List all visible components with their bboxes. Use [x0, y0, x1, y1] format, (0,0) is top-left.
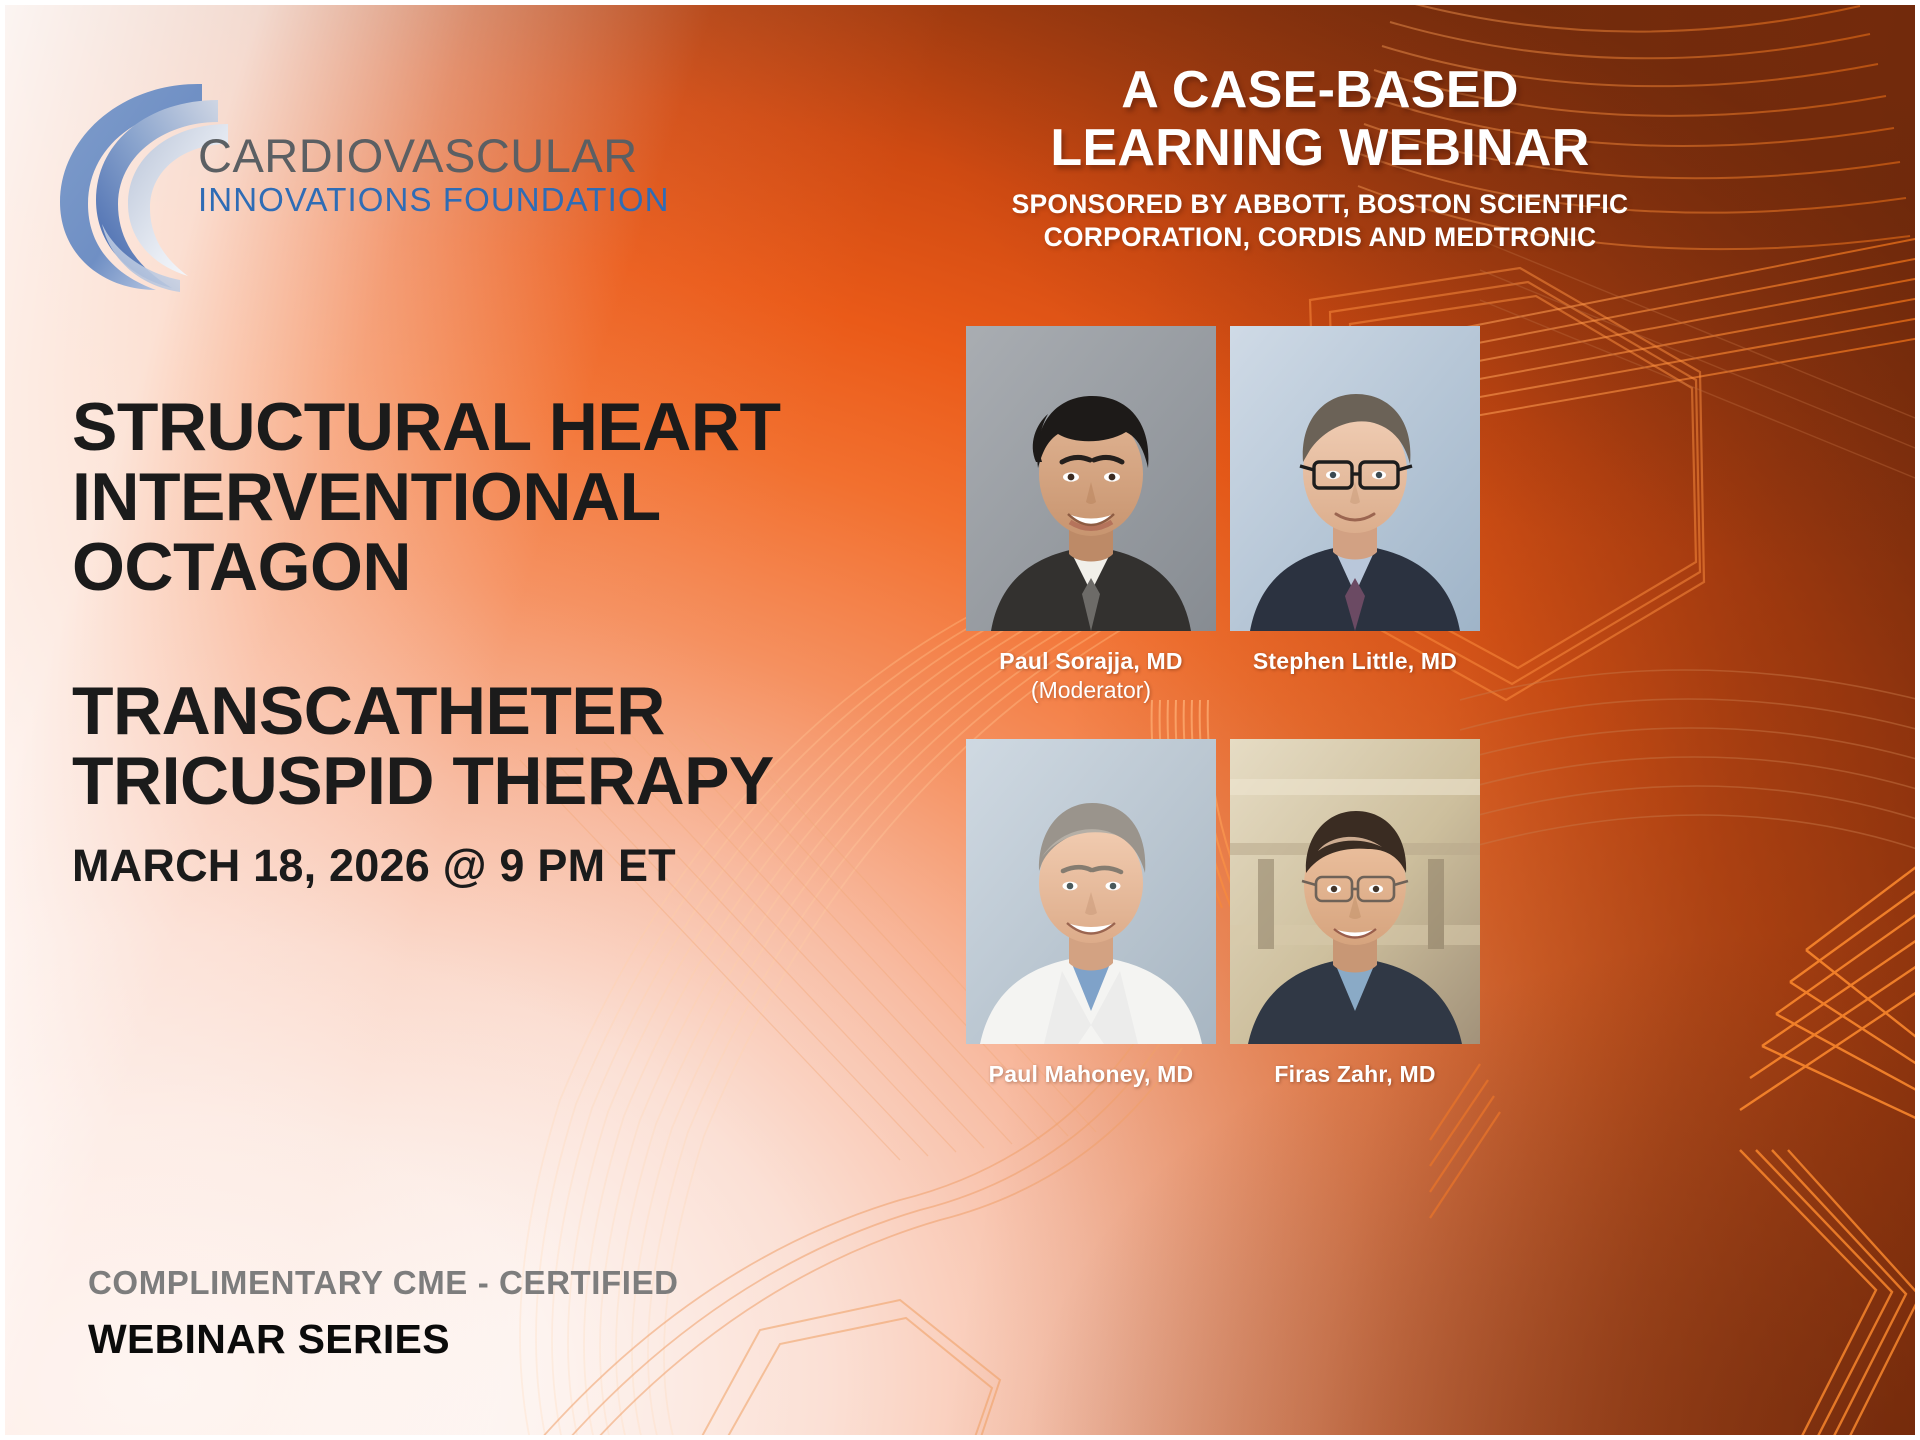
- cif-logo: CARDIOVASCULAR INNOVATIONS FOUNDATION: [52, 74, 612, 304]
- logo-line-cardiovascular: CARDIOVASCULAR: [198, 132, 658, 179]
- speaker-card: Firas Zahr, MD: [1230, 739, 1480, 1090]
- avatar: [1230, 739, 1480, 1044]
- logo-line-innovations-foundation: INNOVATIONS FOUNDATION: [198, 179, 658, 220]
- speaker-grid: Paul Sorajja, MD (Moderator): [958, 326, 1858, 1386]
- topic-one-line1: STRUCTURAL HEART: [72, 392, 942, 462]
- avatar: [966, 326, 1216, 631]
- speaker-card: Paul Sorajja, MD (Moderator): [966, 326, 1216, 704]
- avatar: [1230, 326, 1480, 631]
- sponsor-line2: CORPORATION, CORDIS AND MEDTRONIC: [780, 221, 1860, 253]
- webinar-flyer: CARDIOVASCULAR INNOVATIONS FOUNDATION A …: [0, 0, 1920, 1440]
- speaker-card: Stephen Little, MD: [1230, 326, 1480, 677]
- footer-block: COMPLIMENTARY CME - CERTIFIED WEBINAR SE…: [88, 1264, 908, 1363]
- event-date: MARCH 18, 2026 @ 9 PM ET: [72, 840, 942, 892]
- portrait-firas-zahr: [1230, 739, 1480, 1044]
- header-title-line1: A CASE-BASED: [780, 62, 1860, 120]
- header-block: A CASE-BASED LEARNING WEBINAR SPONSORED …: [780, 62, 1860, 253]
- speaker-card: Paul Mahoney, MD: [966, 739, 1216, 1090]
- topic-one-line2: INTERVENTIONAL: [72, 462, 942, 532]
- headline-spacer: [72, 602, 942, 676]
- cme-certified-label: COMPLIMENTARY CME - CERTIFIED: [88, 1264, 908, 1302]
- topic-two-line1: TRANSCATHETER: [72, 676, 942, 746]
- webinar-series-label: WEBINAR SERIES: [88, 1316, 908, 1363]
- sponsor-text: SPONSORED BY ABBOTT, BOSTON SCIENTIFIC C…: [780, 188, 1860, 253]
- portrait-paul-mahoney: [966, 739, 1216, 1044]
- headline-block: STRUCTURAL HEART INTERVENTIONAL OCTAGON …: [72, 392, 942, 892]
- speaker-name: Stephen Little, MD: [1230, 648, 1480, 675]
- topic-one-line3: OCTAGON: [72, 532, 942, 602]
- topic-two-line2: TRICUSPID THERAPY: [72, 746, 942, 816]
- header-title: A CASE-BASED LEARNING WEBINAR: [780, 62, 1860, 177]
- speaker-name: Firas Zahr, MD: [1230, 1061, 1480, 1088]
- portrait-paul-sorajja: [966, 326, 1216, 631]
- topic-two-title: TRANSCATHETER TRICUSPID THERAPY: [72, 676, 942, 816]
- avatar: [966, 739, 1216, 1044]
- speaker-name: Paul Sorajja, MD: [966, 648, 1216, 675]
- speaker-name: Paul Mahoney, MD: [966, 1061, 1216, 1088]
- portrait-stephen-little: [1230, 326, 1480, 631]
- header-title-line2: LEARNING WEBINAR: [780, 120, 1860, 178]
- topic-one-title: STRUCTURAL HEART INTERVENTIONAL OCTAGON: [72, 392, 942, 602]
- cif-logo-wordmark: CARDIOVASCULAR INNOVATIONS FOUNDATION: [198, 132, 658, 220]
- sponsor-line1: SPONSORED BY ABBOTT, BOSTON SCIENTIFIC: [780, 188, 1860, 220]
- speaker-role: (Moderator): [966, 677, 1216, 704]
